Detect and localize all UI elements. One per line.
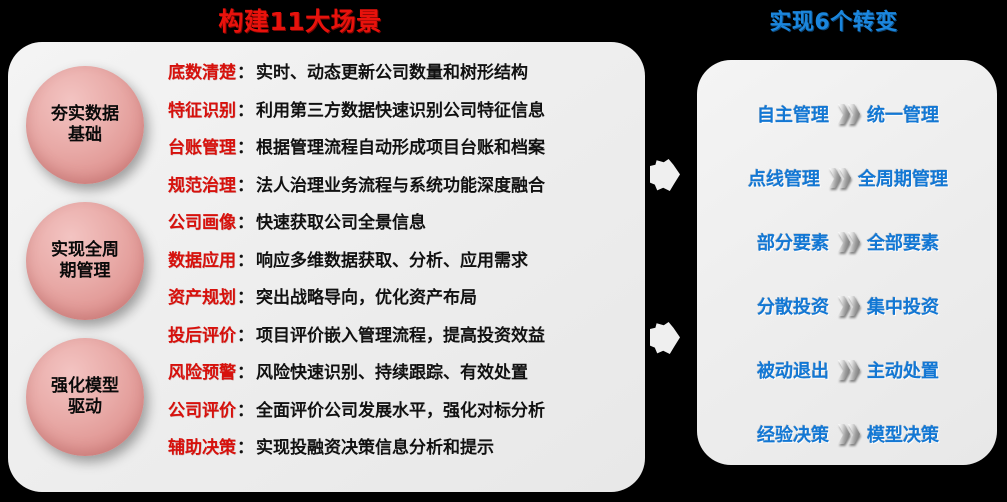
transform-list: 自主管理 统一管理 点线管理 全周期管理 部分要素 全部要素 分散投资 集中投资… xyxy=(705,82,991,466)
double-chevron-right-icon xyxy=(838,424,858,444)
scenario-key: 风险预警 xyxy=(168,358,236,383)
pillar-circle-1[interactable]: 夯实数据 基础 xyxy=(26,66,144,184)
scenario-colon: ： xyxy=(236,321,256,346)
scenario-key: 特征识别 xyxy=(168,96,236,121)
scenario-value: 突出战略导向，优化资产布局 xyxy=(256,283,477,308)
transform-from: 部分要素 xyxy=(757,229,829,255)
scenario-colon: ： xyxy=(236,171,256,196)
scenario-key: 公司画像 xyxy=(168,208,236,233)
double-chevron-right-icon xyxy=(838,104,858,124)
scenario-row[interactable]: 公司画像 ： 快速获取公司全景信息 xyxy=(168,208,630,246)
scenario-row[interactable]: 投后评价 ： 项目评价嵌入管理流程，提高投资效益 xyxy=(168,321,630,359)
transform-from: 分散投资 xyxy=(757,293,829,319)
scenario-colon: ： xyxy=(236,358,256,383)
transform-to: 全周期管理 xyxy=(858,165,948,191)
transform-to: 统一管理 xyxy=(867,101,939,127)
page-title-right: 实现6个转变 xyxy=(660,4,1007,36)
scenario-value: 响应多维数据获取、分析、应用需求 xyxy=(256,246,528,271)
transform-row[interactable]: 自主管理 统一管理 xyxy=(705,82,991,146)
arrow-right-icon xyxy=(650,322,680,354)
double-chevron-right-icon xyxy=(838,232,858,252)
pillar-circle-3[interactable]: 强化模型 驱动 xyxy=(26,338,144,456)
double-chevron-right-icon xyxy=(838,296,858,316)
pillar-circle-2-label: 实现全周 期管理 xyxy=(51,240,119,281)
transform-to: 模型决策 xyxy=(867,421,939,447)
scenario-colon: ： xyxy=(236,396,256,421)
transform-to: 全部要素 xyxy=(867,229,939,255)
scenario-key: 资产规划 xyxy=(168,283,236,308)
scenario-value: 利用第三方数据快速识别公司特征信息 xyxy=(256,96,545,121)
scenario-value: 快速获取公司全景信息 xyxy=(256,208,426,233)
scenario-colon: ： xyxy=(236,433,256,458)
scenario-key: 公司评价 xyxy=(168,396,236,421)
scenario-colon: ： xyxy=(236,283,256,308)
transform-row[interactable]: 分散投资 集中投资 xyxy=(705,274,991,338)
scenario-value: 风险快速识别、持续跟踪、有效处置 xyxy=(256,358,528,383)
scenario-key: 辅助决策 xyxy=(168,433,236,458)
scenario-row[interactable]: 公司评价 ： 全面评价公司发展水平，强化对标分析 xyxy=(168,396,630,434)
transform-row[interactable]: 点线管理 全周期管理 xyxy=(705,146,991,210)
scenario-row[interactable]: 底数清楚 ： 实时、动态更新公司数量和树形结构 xyxy=(168,58,630,96)
transform-row[interactable]: 被动退出 主动处置 xyxy=(705,338,991,402)
scenario-key: 底数清楚 xyxy=(168,58,236,83)
scenario-value: 实现投融资决策信息分析和提示 xyxy=(256,433,494,458)
pillar-circle-3-label: 强化模型 驱动 xyxy=(51,376,119,417)
transform-from: 被动退出 xyxy=(757,357,829,383)
slide-canvas: 构建11大场景 实现6个转变 夯实数据 基础 实现全周 期管理 强化模型 驱动 … xyxy=(0,0,1007,502)
transform-row[interactable]: 部分要素 全部要素 xyxy=(705,210,991,274)
scenario-value: 根据管理流程自动形成项目台账和档案 xyxy=(256,133,545,158)
scenario-row[interactable]: 风险预警 ： 风险快速识别、持续跟踪、有效处置 xyxy=(168,358,630,396)
scenario-key: 数据应用 xyxy=(168,246,236,271)
scenario-colon: ： xyxy=(236,246,256,271)
scenario-row[interactable]: 规范治理 ： 法人治理业务流程与系统功能深度融合 xyxy=(168,171,630,209)
scenario-row[interactable]: 特征识别 ： 利用第三方数据快速识别公司特征信息 xyxy=(168,96,630,134)
scenario-value: 实时、动态更新公司数量和树形结构 xyxy=(256,58,528,83)
scenario-colon: ： xyxy=(236,208,256,233)
scenario-row[interactable]: 资产规划 ： 突出战略导向，优化资产布局 xyxy=(168,283,630,321)
arrow-right-icon xyxy=(650,159,680,191)
transform-to: 主动处置 xyxy=(867,357,939,383)
scenario-value: 项目评价嵌入管理流程，提高投资效益 xyxy=(256,321,545,346)
transform-to: 集中投资 xyxy=(867,293,939,319)
pillar-circle-1-label: 夯实数据 基础 xyxy=(51,104,119,145)
scenario-key: 规范治理 xyxy=(168,171,236,196)
scenario-value: 法人治理业务流程与系统功能深度融合 xyxy=(256,171,545,196)
scenario-key: 投后评价 xyxy=(168,321,236,346)
scenario-colon: ： xyxy=(236,133,256,158)
double-chevron-right-icon xyxy=(838,360,858,380)
page-title-left: 构建11大场景 xyxy=(0,2,600,38)
scenario-row[interactable]: 数据应用 ： 响应多维数据获取、分析、应用需求 xyxy=(168,246,630,284)
transform-row[interactable]: 经验决策 模型决策 xyxy=(705,402,991,466)
transform-from: 经验决策 xyxy=(757,421,829,447)
scenario-colon: ： xyxy=(236,96,256,121)
transform-from: 点线管理 xyxy=(748,165,820,191)
scenario-colon: ： xyxy=(236,58,256,83)
scenario-value: 全面评价公司发展水平，强化对标分析 xyxy=(256,396,545,421)
transform-from: 自主管理 xyxy=(757,101,829,127)
scenario-list: 底数清楚 ： 实时、动态更新公司数量和树形结构 特征识别 ： 利用第三方数据快速… xyxy=(168,58,630,471)
scenario-key: 台账管理 xyxy=(168,133,236,158)
double-chevron-right-icon xyxy=(829,168,849,188)
pillar-circle-2[interactable]: 实现全周 期管理 xyxy=(26,202,144,320)
scenario-row[interactable]: 台账管理 ： 根据管理流程自动形成项目台账和档案 xyxy=(168,133,630,171)
scenario-row[interactable]: 辅助决策 ： 实现投融资决策信息分析和提示 xyxy=(168,433,630,471)
